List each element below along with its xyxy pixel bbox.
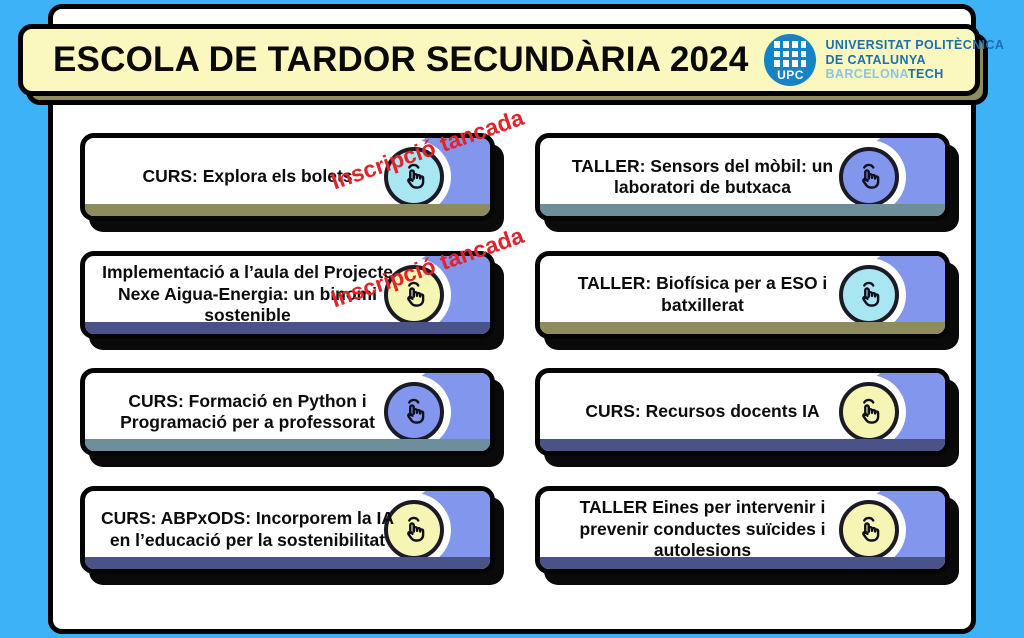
course-card[interactable]: TALLER: Biofísica per a ESO i batxillera… <box>535 251 950 339</box>
upc-logo-line-2: DE CATALUNYA <box>825 53 1004 68</box>
course-card-slot: CURS: Explora els boletsInscripció tanca… <box>80 133 505 243</box>
course-card[interactable]: CURS: Formació en Python i Programació p… <box>80 368 495 456</box>
course-card[interactable]: Implementació a l’aula del Projecte Nexe… <box>80 251 495 339</box>
course-card-slot: TALLER: Biofísica per a ESO i batxillera… <box>535 251 960 361</box>
course-card-slot: Implementació a l’aula del Projecte Nexe… <box>80 251 505 361</box>
course-card-accent-bar <box>85 322 490 334</box>
course-card-accent-bar <box>540 557 945 569</box>
upc-logo-mark: UPC <box>764 68 816 82</box>
upc-logo-line-3: BARCELONATECH <box>825 67 1004 82</box>
course-card-accent-bar <box>85 557 490 569</box>
upc-logo-circle: UPC <box>764 34 816 86</box>
course-card-grid: CURS: Explora els boletsInscripció tanca… <box>80 133 960 603</box>
course-card-accent-bar <box>85 439 490 451</box>
course-card-slot: TALLER Eines per intervenir i prevenir c… <box>535 486 960 596</box>
course-card-slot: CURS: ABPxODS: Incorporem la IA en l’edu… <box>80 486 505 596</box>
course-card-accent-bar <box>540 204 945 216</box>
course-card-accent-bar <box>85 204 490 216</box>
course-card[interactable]: CURS: Recursos docents IA <box>535 368 950 456</box>
title-banner-face: ESCOLA DE TARDOR SECUNDÀRIA 2024 UPC UNI… <box>18 24 980 96</box>
upc-logo-line-1: UNIVERSITAT POLITÈCNICA <box>825 38 1004 53</box>
upc-logo: UPC UNIVERSITAT POLITÈCNICA DE CATALUNYA… <box>764 34 1004 86</box>
course-card-accent-bar <box>540 439 945 451</box>
course-card-slot: CURS: Formació en Python i Programació p… <box>80 368 505 478</box>
upc-logo-grid <box>774 41 806 67</box>
course-card-accent-bar <box>540 322 945 334</box>
title-banner: ESCOLA DE TARDOR SECUNDÀRIA 2024 UPC UNI… <box>18 24 980 96</box>
course-card[interactable]: CURS: Explora els bolets <box>80 133 495 221</box>
course-card-slot: TALLER: Sensors del mòbil: un laboratori… <box>535 133 960 243</box>
course-card[interactable]: TALLER Eines per intervenir i prevenir c… <box>535 486 950 574</box>
upc-logo-line-3-light: BARCELONA <box>825 67 908 81</box>
upc-logo-line-3-bold: TECH <box>908 67 944 81</box>
course-card-slot: CURS: Recursos docents IA <box>535 368 960 478</box>
course-card[interactable]: TALLER: Sensors del mòbil: un laboratori… <box>535 133 950 221</box>
course-card[interactable]: CURS: ABPxODS: Incorporem la IA en l’edu… <box>80 486 495 574</box>
upc-logo-wordmark: UNIVERSITAT POLITÈCNICA DE CATALUNYA BAR… <box>825 38 1004 82</box>
page-title: ESCOLA DE TARDOR SECUNDÀRIA 2024 <box>53 40 748 80</box>
